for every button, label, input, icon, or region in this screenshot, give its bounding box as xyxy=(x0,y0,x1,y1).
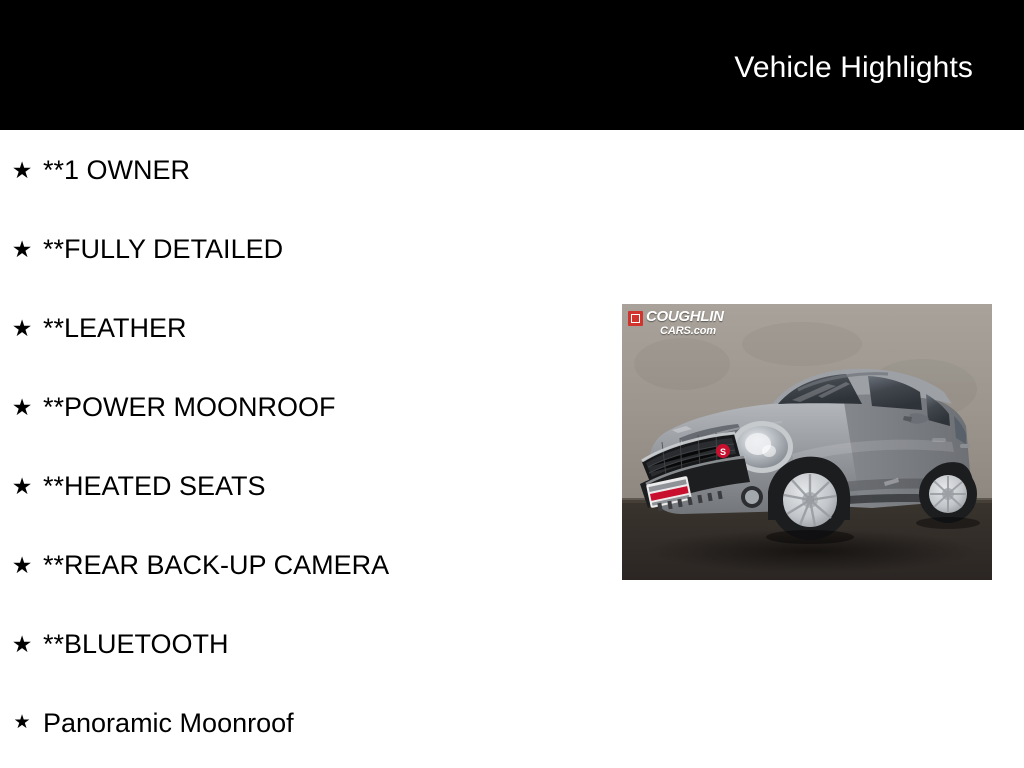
list-item-label: **BLUETOOTH xyxy=(43,628,229,660)
list-item: ★ Panoramic Moonroof xyxy=(0,683,620,762)
list-item-label: **REAR BACK-UP CAMERA xyxy=(43,549,389,581)
star-icon: ★ xyxy=(11,317,33,339)
list-item-label: **FULLY DETAILED xyxy=(43,233,283,265)
star-icon: ★ xyxy=(11,159,33,181)
star-icon: ★ xyxy=(11,238,33,260)
star-icon: ★ xyxy=(11,475,33,497)
vehicle-highlights-list: ★ **1 OWNER ★ **FULLY DETAILED ★ **LEATH… xyxy=(0,130,620,762)
vehicle-photo-illustration: S xyxy=(622,304,992,580)
list-item: ★ **FULLY DETAILED xyxy=(0,209,620,288)
list-item-label: Panoramic Moonroof xyxy=(43,707,294,739)
star-icon: ★ xyxy=(11,633,33,655)
list-item-label: **POWER MOONROOF xyxy=(43,391,336,423)
svg-text:S: S xyxy=(720,447,726,457)
header-band: Vehicle Highlights xyxy=(0,0,1024,130)
list-item: ★ **BLUETOOTH xyxy=(0,604,620,683)
star-icon: ★ xyxy=(11,554,33,576)
list-item: ★ **LEATHER xyxy=(0,288,620,367)
list-item: ★ **POWER MOONROOF xyxy=(0,367,620,446)
list-item-label: **HEATED SEATS xyxy=(43,470,266,502)
star-icon: ★ xyxy=(11,396,33,418)
page-title: Vehicle Highlights xyxy=(734,50,973,86)
list-item: ★ **REAR BACK-UP CAMERA xyxy=(0,525,620,604)
list-item: ★ **HEATED SEATS xyxy=(0,446,620,525)
star-icon: ★ xyxy=(11,712,33,734)
list-item-label: **LEATHER xyxy=(43,312,187,344)
list-item-label: **1 OWNER xyxy=(43,154,190,186)
vehicle-photo[interactable]: S xyxy=(622,304,992,580)
list-item: ★ **1 OWNER xyxy=(0,130,620,209)
